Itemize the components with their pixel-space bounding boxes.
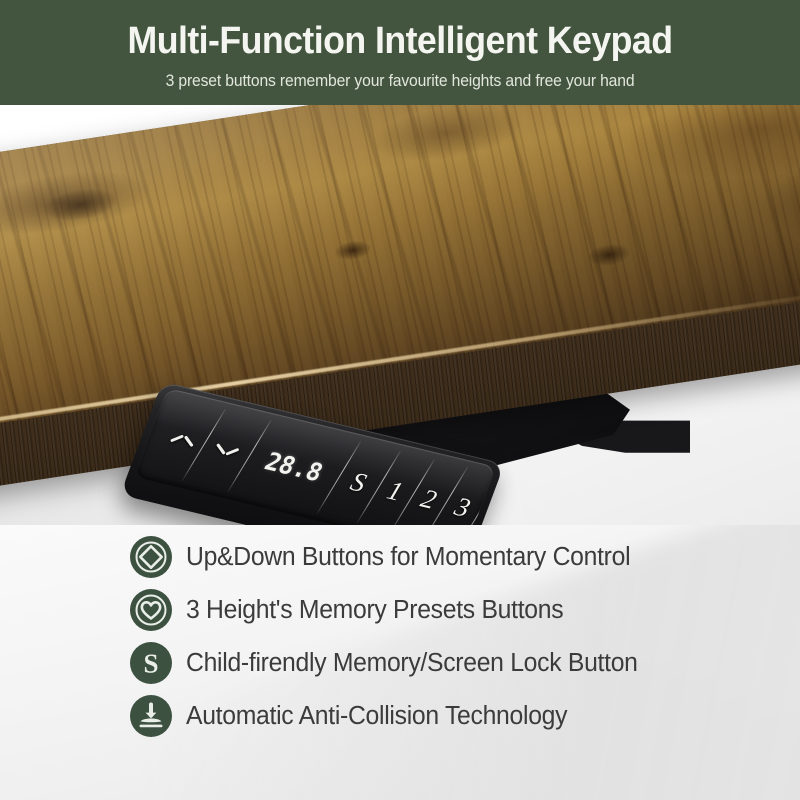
feature-item-child-lock: S Child-firendly Memory/Screen Lock Butt… <box>130 637 790 689</box>
feature-label-updown: Up&Down Buttons for Momentary Control <box>186 542 630 572</box>
feature-label-anti-collision: Automatic Anti-Collision Technology <box>186 701 567 731</box>
feature-item-memory-presets: 3 Height's Memory Presets Buttons <box>130 584 790 636</box>
chevron-up-icon <box>170 431 196 449</box>
anti-collision-icon <box>130 695 172 737</box>
page-subtitle: 3 preset buttons remember your favourite… <box>20 71 780 91</box>
key-s-label: S <box>347 468 370 497</box>
feature-item-anti-collision: Automatic Anti-Collision Technology <box>130 690 790 742</box>
product-photo: 28.8 S 1 2 3 <box>0 105 800 525</box>
page-title: Multi-Function Intelligent Keypad <box>24 19 776 63</box>
chevron-down-icon <box>213 441 239 459</box>
height-display-value: 28.8 <box>261 448 326 484</box>
feature-item-updown: Up&Down Buttons for Momentary Control <box>130 531 790 583</box>
product-feature-graphic: Multi-Function Intelligent Keypad 3 pres… <box>0 0 800 800</box>
key-preset-2-label: 2 <box>417 485 440 514</box>
key-preset-3-label: 3 <box>451 493 474 522</box>
feature-list: Up&Down Buttons for Momentary Control 3 … <box>0 525 800 800</box>
s-letter-icon: S <box>130 642 172 684</box>
feature-label-memory-presets: 3 Height's Memory Presets Buttons <box>186 595 563 625</box>
diamond-icon <box>130 536 172 578</box>
keypad-left-margin <box>151 432 163 435</box>
key-preset-1-label: 1 <box>384 477 407 506</box>
heart-icon <box>130 589 172 631</box>
feature-label-child-lock: Child-firendly Memory/Screen Lock Button <box>186 648 638 678</box>
svg-text:S: S <box>143 649 158 679</box>
header-band: Multi-Function Intelligent Keypad 3 pres… <box>0 0 800 105</box>
